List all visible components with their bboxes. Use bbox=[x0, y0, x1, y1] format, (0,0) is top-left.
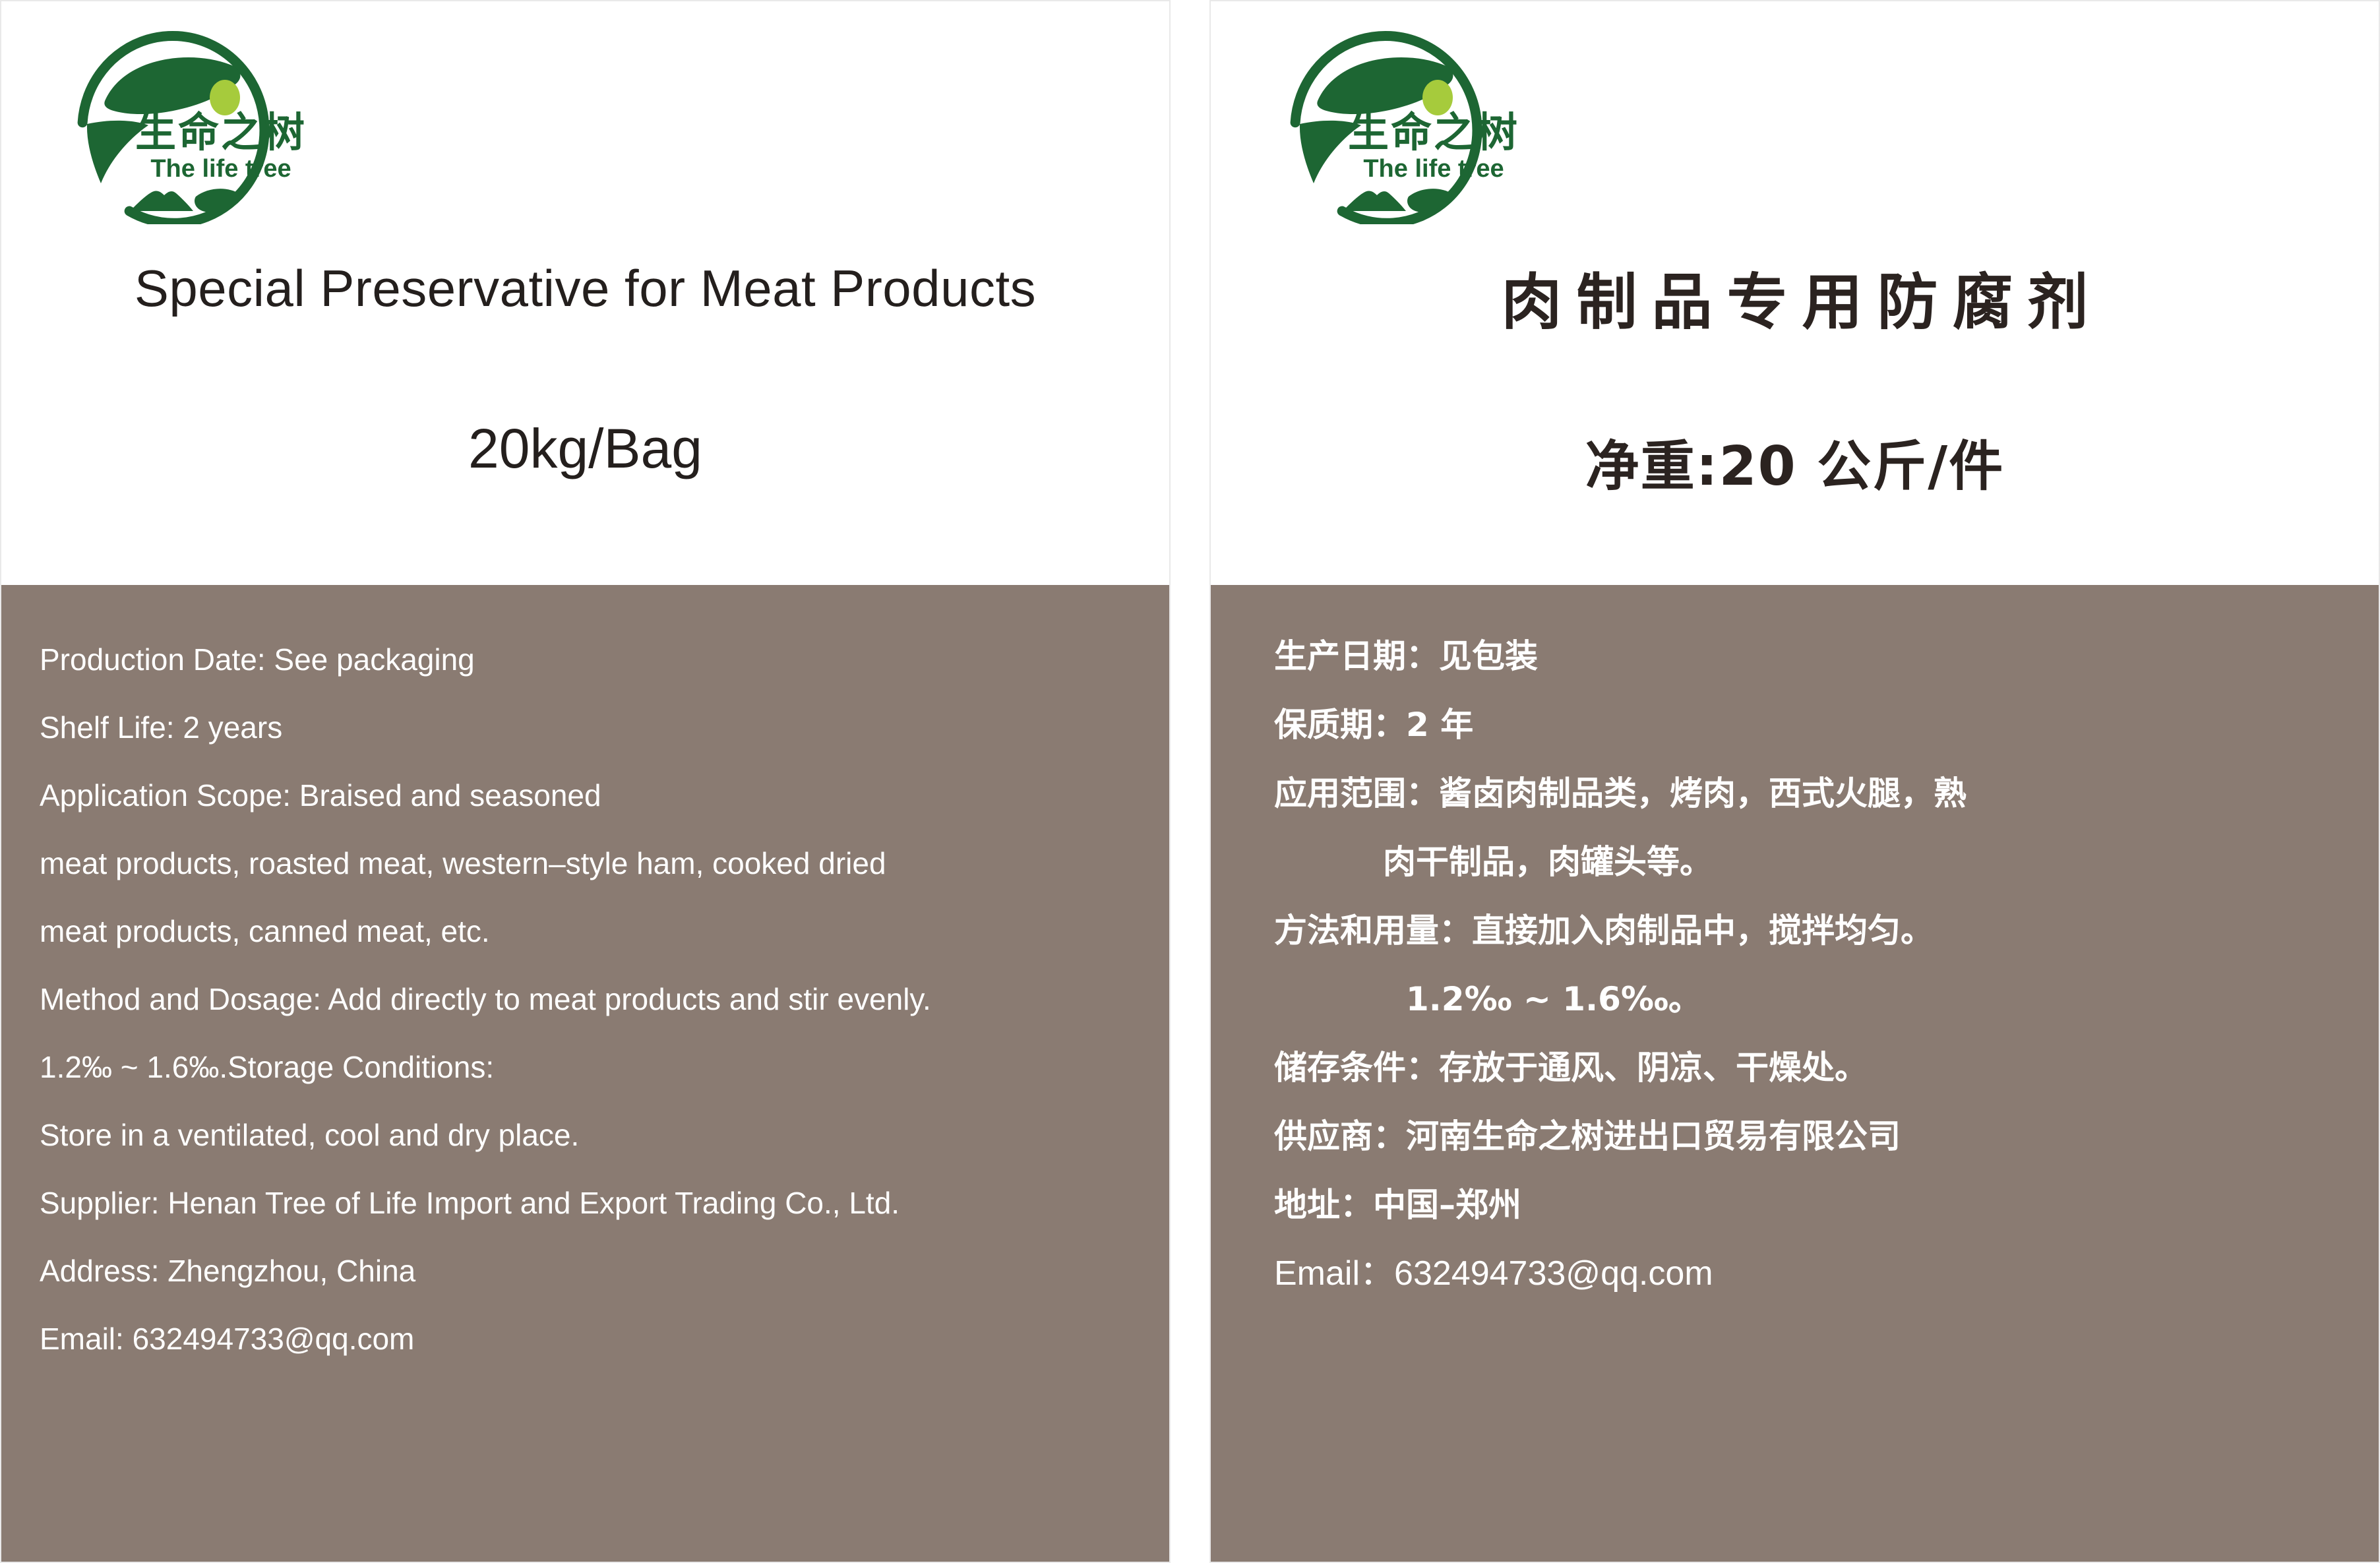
info-line-address: Address: Zhengzhou, China bbox=[40, 1237, 1143, 1305]
info-line-storage: 储存条件：存放于通风、阴凉、干燥处。 bbox=[1274, 1033, 2352, 1102]
info-line-scope-cont: 肉干制品，肉罐头等。 bbox=[1274, 828, 2352, 896]
info-line-dosage-range: 1.2‰ ~ 1.6‰.Storage Conditions: bbox=[40, 1033, 1143, 1101]
info-line-address: 地址：中国–郑州 bbox=[1274, 1171, 2352, 1239]
svg-text:生命之树: 生命之树 bbox=[1348, 108, 1519, 156]
svg-text:The life tree: The life tree bbox=[150, 155, 291, 183]
info-line-application-scope: Application Scope: Braised and seasoned bbox=[40, 762, 1143, 830]
info-line-email: Email：632494733@qq.com bbox=[1274, 1239, 2352, 1308]
info-line-supplier: Supplier: Henan Tree of Life Import and … bbox=[40, 1169, 1143, 1237]
english-label-panel: 生命之树 The life tree Special Preservative … bbox=[0, 0, 1171, 1563]
english-info-block: Production Date: See packaging Shelf Lif… bbox=[1, 585, 1169, 1562]
english-product-title: Special Preservative for Meat Products bbox=[1, 259, 1169, 319]
chinese-header: 生命之树 The life tree 肉制品专用防腐剂 净重:20 公斤/件 bbox=[1211, 1, 2379, 585]
info-line-method-dosage: 方法和用量：直接加入肉制品中，搅拌均匀。 bbox=[1274, 896, 2352, 965]
info-line-storage: Store in a ventilated, cool and dry plac… bbox=[40, 1101, 1143, 1169]
info-line-shelf-life: 保质期：2 年 bbox=[1274, 690, 2352, 759]
english-info-lines: Production Date: See packaging Shelf Lif… bbox=[40, 626, 1143, 1373]
info-line-scope-cont-2: meat products, canned meat, etc. bbox=[40, 898, 1143, 965]
info-line-dosage-range: 1.2‰ ~ 1.6‰。 bbox=[1274, 965, 2352, 1033]
chinese-net-weight: 净重:20 公斤/件 bbox=[1211, 422, 2379, 501]
info-line-production-date: Production Date: See packaging bbox=[40, 626, 1143, 694]
english-net-weight: 20kg/Bag bbox=[1, 417, 1169, 481]
info-line-supplier: 供应商：河南生命之树进出口贸易有限公司 bbox=[1274, 1102, 2352, 1171]
product-label-sheet: 生命之树 The life tree Special Preservative … bbox=[0, 0, 2380, 1563]
panel-gap bbox=[1171, 0, 1209, 1563]
chinese-info-block: 生产日期：见包装 保质期：2 年 应用范围：酱卤肉制品类，烤肉，西式火腿，熟 肉… bbox=[1211, 585, 2379, 1562]
info-line-method-dosage: Method and Dosage: Add directly to meat … bbox=[40, 965, 1143, 1033]
info-line-email: Email: 632494733@qq.com bbox=[40, 1305, 1143, 1373]
info-line-shelf-life: Shelf Life: 2 years bbox=[40, 694, 1143, 762]
the-life-tree-logo: 生命之树 The life tree bbox=[1277, 26, 1554, 224]
english-header: 生命之树 The life tree Special Preservative … bbox=[1, 1, 1169, 585]
the-life-tree-logo: 生命之树 The life tree bbox=[64, 26, 341, 224]
info-line-application-scope: 应用范围：酱卤肉制品类，烤肉，西式火腿，熟 bbox=[1274, 759, 2352, 828]
chinese-label-panel: 生命之树 The life tree 肉制品专用防腐剂 净重:20 公斤/件 生… bbox=[1209, 0, 2380, 1563]
info-line-production-date: 生产日期：见包装 bbox=[1274, 622, 2352, 690]
info-line-scope-cont-1: meat products, roasted meat, western–sty… bbox=[40, 830, 1143, 898]
chinese-product-title: 肉制品专用防腐剂 bbox=[1211, 253, 2379, 341]
chinese-info-lines: 生产日期：见包装 保质期：2 年 应用范围：酱卤肉制品类，烤肉，西式火腿，熟 肉… bbox=[1274, 622, 2352, 1308]
svg-text:生命之树: 生命之树 bbox=[135, 108, 307, 156]
svg-text:The life tree: The life tree bbox=[1363, 155, 1504, 183]
